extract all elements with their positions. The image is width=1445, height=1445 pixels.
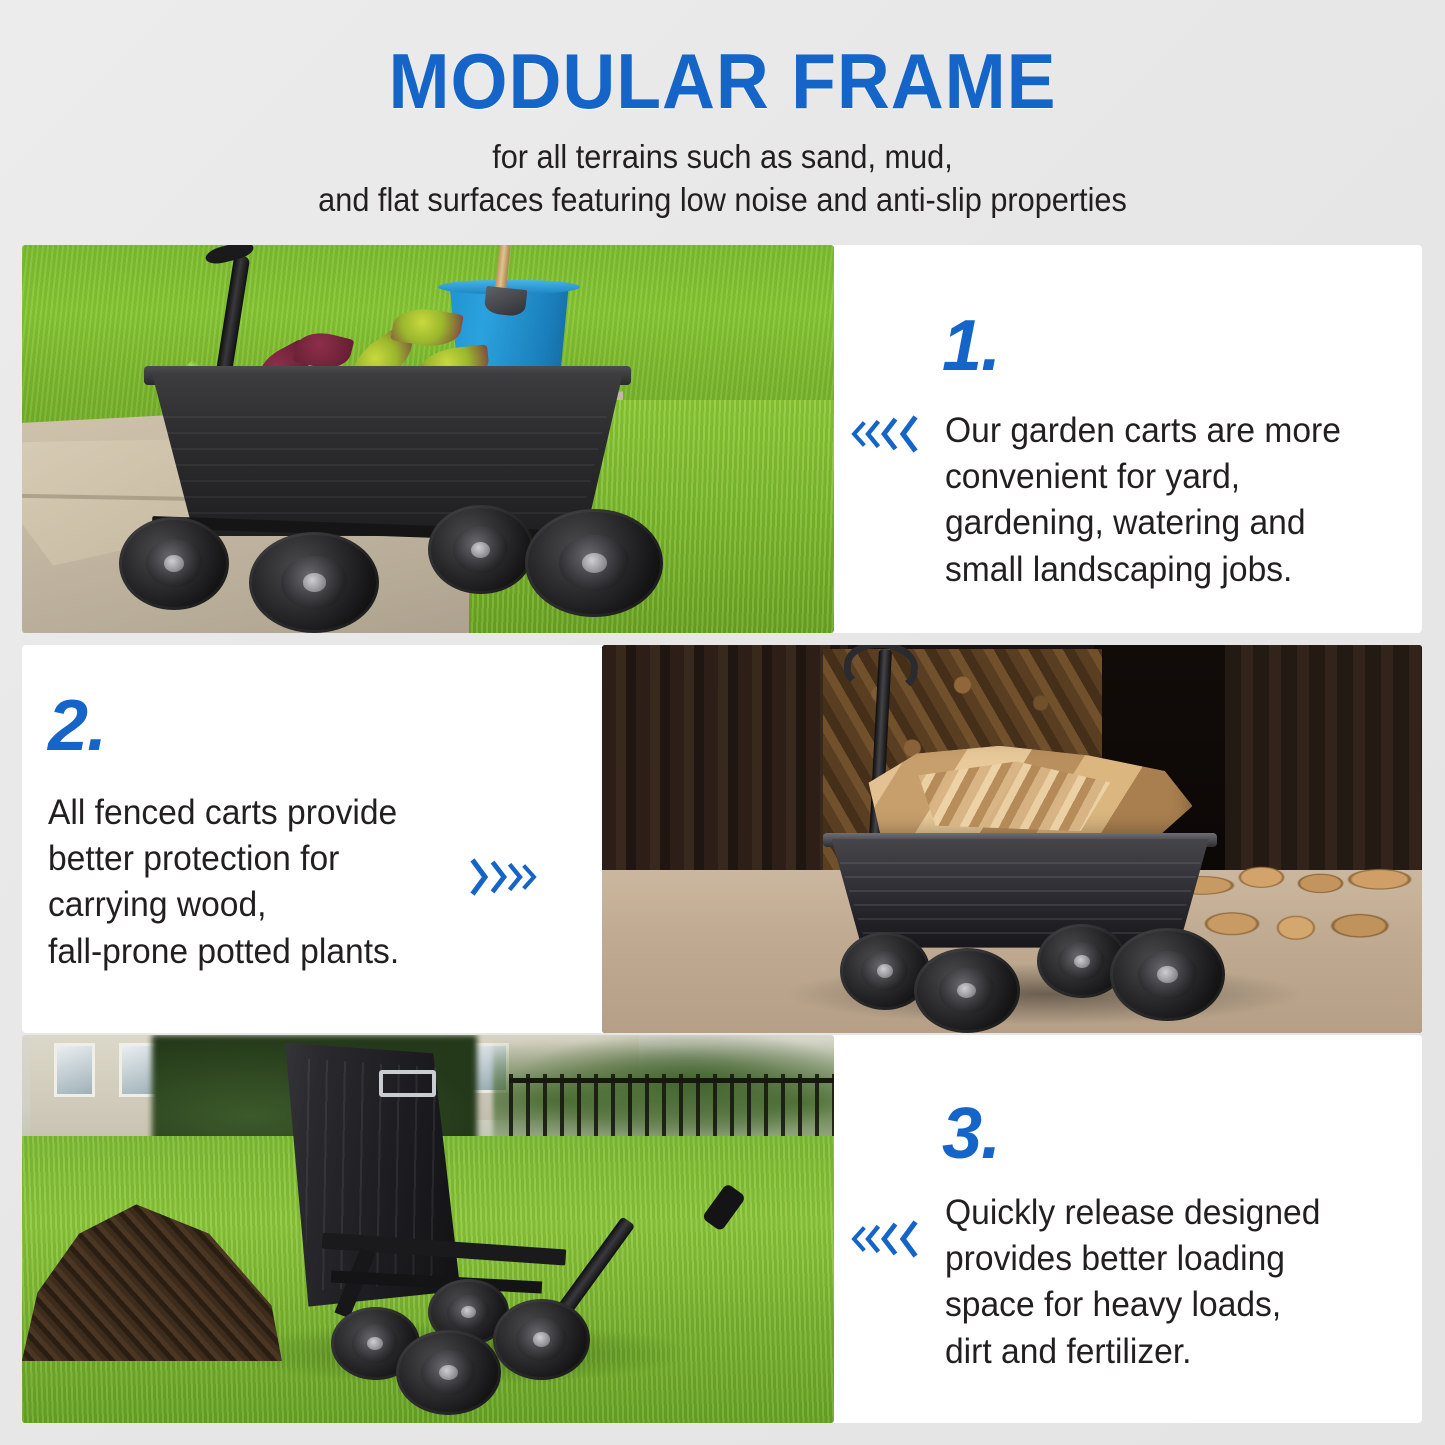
cart-wheel xyxy=(249,532,379,633)
cart-wheel xyxy=(1110,928,1225,1021)
cart-wheel xyxy=(493,1299,590,1380)
photo-3-scene xyxy=(22,1035,834,1423)
cart-ribs xyxy=(160,416,607,525)
photo-1-scene xyxy=(22,245,834,633)
feature-number-1: 1. xyxy=(942,310,1000,382)
feature-number-2: 2. xyxy=(48,690,106,762)
header-subtitle: for all terrains such as sand, mud, and … xyxy=(51,136,1395,222)
cart-ribs xyxy=(840,862,1201,940)
feature-photo-2 xyxy=(602,645,1422,1033)
feature-photo-1 xyxy=(22,245,834,633)
cart-wheel xyxy=(396,1330,502,1415)
chevron-group-left-3 xyxy=(850,1220,920,1258)
cart-wheel xyxy=(914,948,1021,1033)
cart-wheel xyxy=(119,517,229,610)
feature-text-3: 3. Quickly release designed provides bet… xyxy=(860,1090,1420,1380)
cart-wheel xyxy=(525,509,663,618)
chevron-group-left-1 xyxy=(850,415,920,453)
photo-2-scene xyxy=(602,645,1422,1033)
header: MODULAR FRAME for all terrains such as s… xyxy=(0,0,1445,238)
log-rounds xyxy=(1168,847,1414,948)
feature-body-3: Quickly release designed provides better… xyxy=(945,1190,1415,1375)
house-window xyxy=(54,1043,95,1097)
feature-body-1: Our garden carts are more convenient for… xyxy=(945,408,1406,593)
feature-text-1: 1. Our garden carts are more convenient … xyxy=(860,300,1420,590)
infographic-page: MODULAR FRAME for all terrains such as s… xyxy=(0,0,1445,1445)
cart-wheel xyxy=(428,505,534,594)
page-title: MODULAR FRAME xyxy=(43,42,1401,120)
fence-rail xyxy=(509,1078,834,1083)
feature-photo-3 xyxy=(22,1035,834,1423)
feature-number-3: 3. xyxy=(942,1098,1000,1170)
feature-body-2: All fenced carts provide better protecti… xyxy=(48,790,499,975)
quick-release-latch xyxy=(379,1070,436,1097)
subtitle-line-1: for all terrains such as sand, mud, xyxy=(51,136,1395,179)
chevron-right-icon xyxy=(522,864,538,890)
chevron-left-icon xyxy=(896,1220,920,1258)
subtitle-line-2: and flat surfaces featuring low noise an… xyxy=(51,179,1395,222)
feature-text-2: 2. All fenced carts provide better prote… xyxy=(40,690,600,980)
chevron-left-icon xyxy=(896,415,920,453)
